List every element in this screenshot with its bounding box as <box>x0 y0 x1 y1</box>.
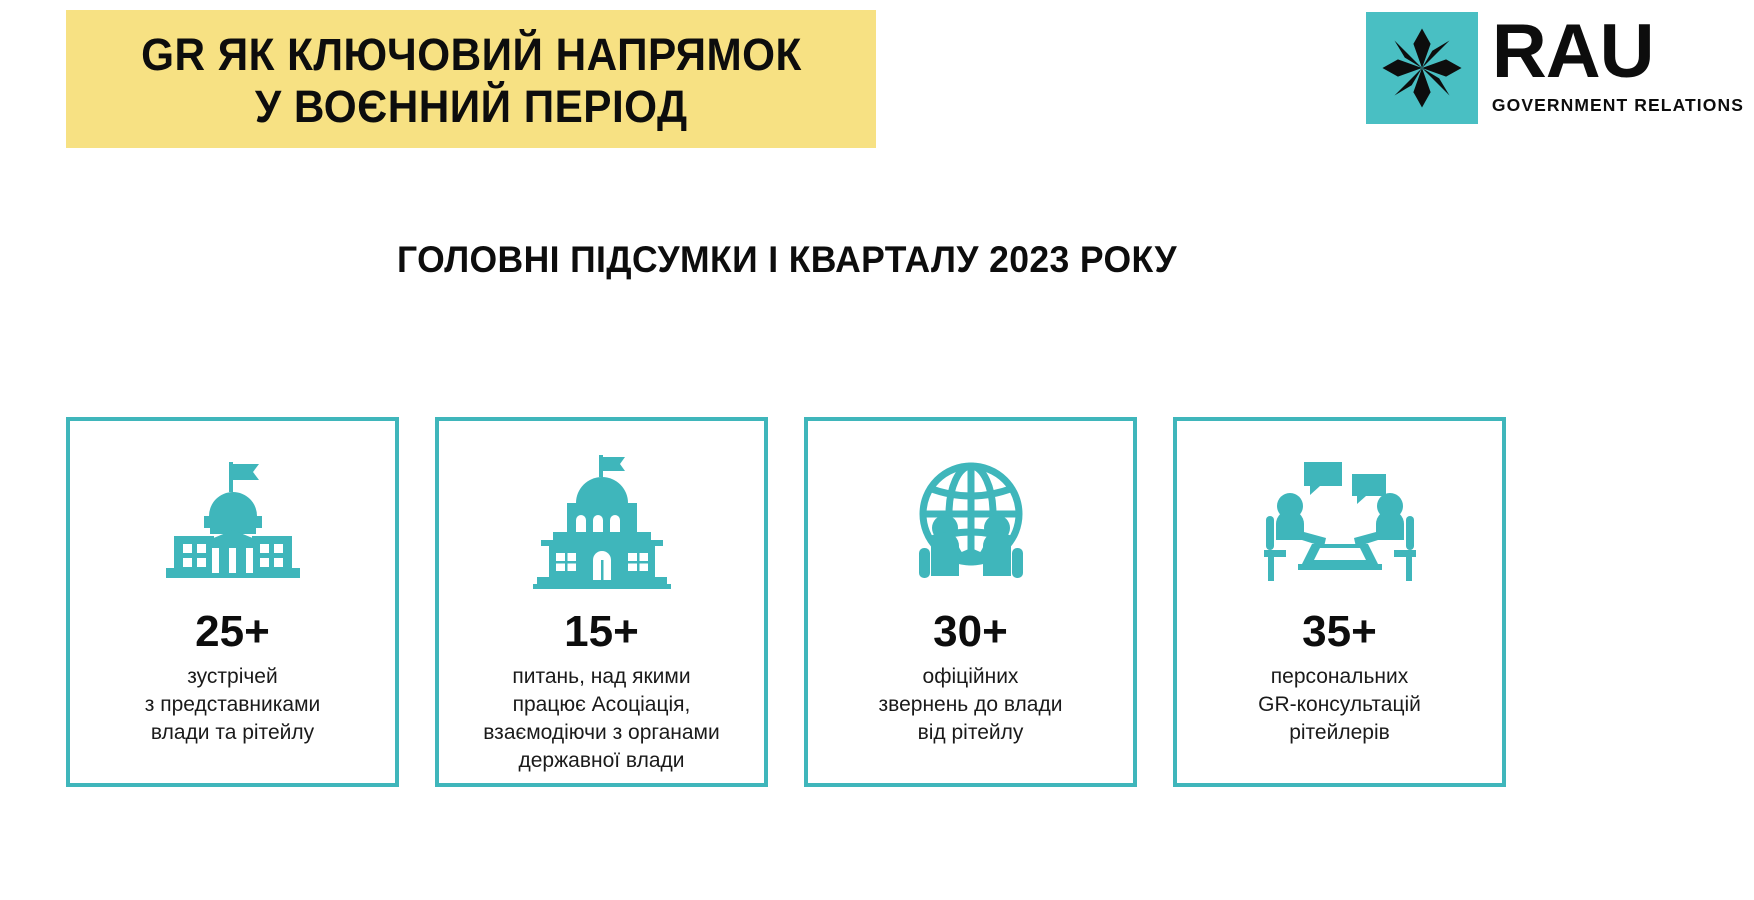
rau-logo: RAU GOVERNMENT RELATIONS <box>1366 12 1744 124</box>
stat-card-issues: 15+ питань, над якими працює Асоціація, … <box>435 417 768 787</box>
stat-caption: персональних GR-консультацій рітейлерів <box>1252 663 1427 747</box>
title-line-2: У ВОЄННИЙ ПЕРІОД <box>255 81 688 133</box>
stat-card-appeals: 30+ офіційних звернень до влади від ріте… <box>804 417 1137 787</box>
stat-caption: зустрічей з представниками влади та ріте… <box>139 663 327 747</box>
stat-number: 30+ <box>933 607 1008 657</box>
logo-tagline: GOVERNMENT RELATIONS <box>1492 94 1744 116</box>
stats-card-row: 25+ зустрічей з представниками влади та … <box>66 417 1506 787</box>
title-line-1: GR ЯК КЛЮЧОВИЙ НАПРЯМОК <box>141 29 802 81</box>
stat-card-consultations: 35+ персональних GR-консультацій рітейле… <box>1173 417 1506 787</box>
logo-text: RAU GOVERNMENT RELATIONS <box>1492 12 1744 116</box>
capitol-building-icon <box>158 447 308 595</box>
slide-root: GR ЯК КЛЮЧОВИЙ НАПРЯМОК У ВОЄННИЙ ПЕРІОД… <box>0 0 1754 900</box>
stat-number: 15+ <box>564 607 639 657</box>
logo-wordmark: RAU <box>1492 12 1744 92</box>
stat-number: 25+ <box>195 607 270 657</box>
consultation-meeting-icon <box>1260 447 1420 595</box>
stat-card-meetings: 25+ зустрічей з представниками влади та … <box>66 417 399 787</box>
stat-number: 35+ <box>1302 607 1377 657</box>
eight-point-star-icon <box>1379 25 1465 111</box>
logo-mark <box>1366 12 1478 124</box>
stat-caption: офіційних звернень до влади від рітейлу <box>873 663 1069 747</box>
parliament-building-icon <box>523 447 681 595</box>
title-banner: GR ЯК КЛЮЧОВИЙ НАПРЯМОК У ВОЄННИЙ ПЕРІОД <box>66 10 876 148</box>
globe-handshake-icon <box>901 447 1041 595</box>
page-subtitle: ГОЛОВНІ ПІДСУМКИ І КВАРТАЛУ 2023 РОКУ <box>31 238 1542 282</box>
stat-caption: питань, над якими працює Асоціація, взає… <box>477 663 725 775</box>
